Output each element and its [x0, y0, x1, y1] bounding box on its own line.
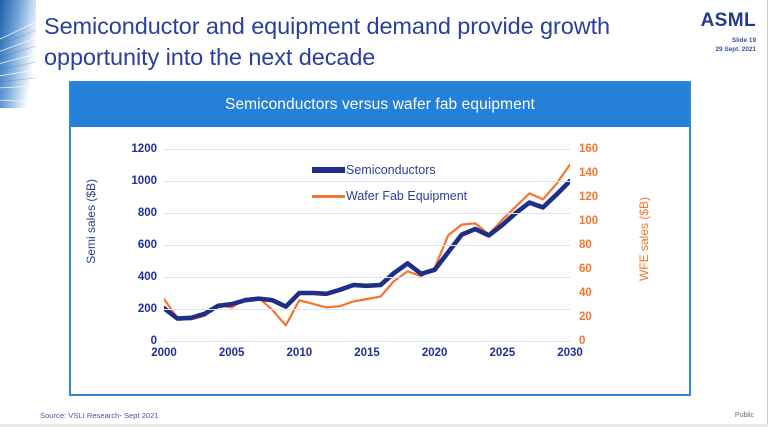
asml-logo: ASML [701, 10, 756, 32]
legend-label-wafer-fab-equipment: Wafer Fab Equipment [346, 189, 467, 203]
asml-logo-text: ASML [701, 10, 756, 31]
slide-meta: Slide 19 29 Sept. 2021 [715, 36, 756, 54]
slide-number: Slide 19 [715, 36, 756, 45]
ribbon-svg [0, 0, 36, 108]
y-axis-left-tick: 600 [138, 239, 157, 251]
gridline [164, 245, 570, 246]
x-axis-tick: 2000 [151, 347, 177, 359]
plot-area: 020040060080010001200 020406080100120140… [164, 149, 570, 341]
y-axis-left-tick: 1200 [131, 143, 157, 155]
y-axis-right-tick: 60 [579, 263, 592, 275]
x-axis-tick: 2025 [490, 347, 516, 359]
chart-body: Semi sales ($B) WFE sales ($B) 020040060… [71, 127, 689, 394]
gridline [164, 341, 570, 342]
gridline [164, 213, 570, 214]
y-axis-right-label: WFE sales ($B) [637, 197, 651, 281]
y-axis-right-tick: 40 [579, 287, 592, 299]
legend-item-semiconductors: Semiconductors [312, 157, 467, 183]
y-axis-left-label: Semi sales ($B) [84, 179, 98, 264]
y-axis-right-tick: 0 [579, 335, 585, 347]
y-axis-right-tick: 140 [579, 167, 598, 179]
gridline [164, 277, 570, 278]
y-axis-right-tick: 160 [579, 143, 598, 155]
x-axis-tick: 2020 [422, 347, 448, 359]
x-axis-tick: 2005 [219, 347, 245, 359]
x-axis-tick: 2010 [287, 347, 313, 359]
classification-label: Public [735, 412, 754, 419]
slide-date: 29 Sept. 2021 [715, 45, 756, 54]
legend-swatch-semiconductors [312, 167, 345, 173]
y-axis-left-tick: 400 [138, 271, 157, 283]
legend-label-semiconductors: Semiconductors [346, 163, 436, 177]
chart-card: Semiconductors versus wafer fab equipmen… [69, 81, 691, 396]
y-axis-right-tick: 120 [579, 191, 598, 203]
y-axis-left-tick: 800 [138, 207, 157, 219]
gridline [164, 309, 570, 310]
y-axis-right-tick: 20 [579, 311, 592, 323]
y-axis-left-tick: 0 [151, 335, 157, 347]
legend-item-wafer-fab-equipment: Wafer Fab Equipment [312, 183, 467, 209]
source-note: Source: VSLI Research- Sept 2021 [40, 411, 159, 420]
page-title: Semiconductor and equipment demand provi… [44, 11, 674, 73]
gridline [164, 149, 570, 150]
chart-title-bar: Semiconductors versus wafer fab equipmen… [71, 83, 689, 127]
slide-canvas: Semiconductor and equipment demand provi… [0, 0, 768, 427]
y-axis-left-tick: 200 [138, 303, 157, 315]
y-axis-left-tick: 1000 [131, 175, 157, 187]
chart-legend: Semiconductors Wafer Fab Equipment [312, 157, 467, 209]
y-axis-right-tick: 80 [579, 239, 592, 251]
x-axis-tick: 2015 [354, 347, 380, 359]
decorative-ribbon-graphic [0, 0, 36, 108]
chart-title: Semiconductors versus wafer fab equipmen… [225, 96, 535, 114]
y-axis-right-tick: 100 [579, 215, 598, 227]
legend-swatch-wafer-fab-equipment [312, 195, 345, 198]
x-axis-tick: 2030 [557, 347, 583, 359]
